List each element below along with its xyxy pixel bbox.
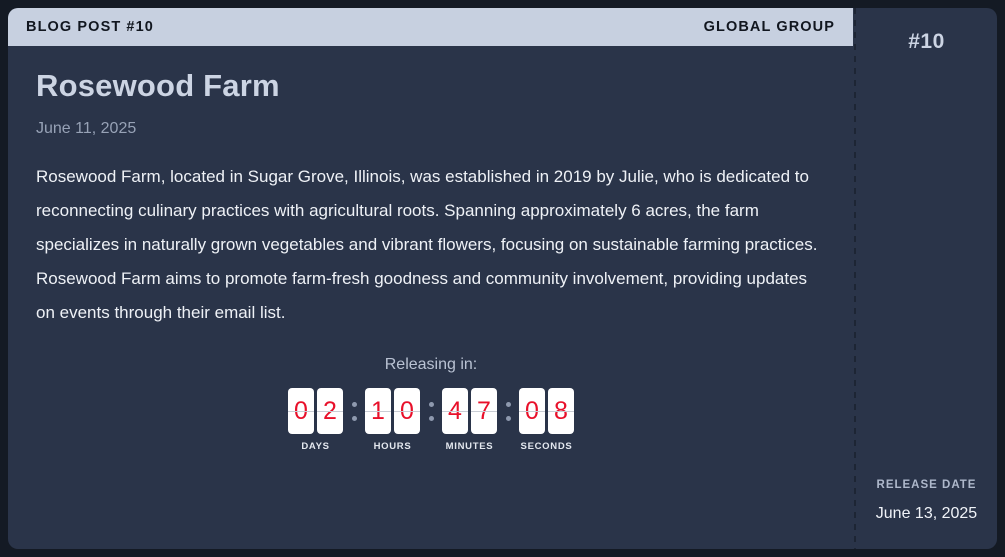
- hours-label: HOURS: [374, 441, 412, 452]
- post-sidebar: #10 RELEASE DATE June 13, 2025: [856, 8, 997, 549]
- minutes-digits: 4 7: [442, 388, 497, 434]
- clock-separator-3: [497, 388, 519, 434]
- clock-separator-1: [343, 388, 365, 434]
- days-label: DAYS: [301, 441, 329, 452]
- release-date-label: RELEASE DATE: [864, 479, 989, 491]
- countdown-unit-minutes: 4 7 MINUTES: [442, 388, 497, 452]
- post-body-text: Rosewood Farm, located in Sugar Grove, I…: [36, 160, 826, 330]
- sidebar-release-block: RELEASE DATE June 13, 2025: [864, 479, 989, 523]
- clock-separator-2: [420, 388, 442, 434]
- seconds-digits: 0 8: [519, 388, 574, 434]
- minutes-digit-tens: 4: [442, 388, 468, 434]
- minutes-digit-ones: 7: [471, 388, 497, 434]
- countdown-unit-days: 0 2 DAYS: [288, 388, 343, 452]
- post-date: June 11, 2025: [36, 120, 826, 138]
- hours-digit-tens: 1: [365, 388, 391, 434]
- colon-dot-top: [506, 402, 511, 407]
- post-main-content: Rosewood Farm June 11, 2025 Rosewood Far…: [8, 46, 854, 549]
- page-root: BLOG POST #10 GLOBAL GROUP Rosewood Farm…: [0, 0, 1005, 557]
- blog-post-label: BLOG POST #10: [26, 19, 154, 35]
- countdown-unit-hours: 1 0 HOURS: [365, 388, 420, 452]
- countdown-clock: 0 2 DAYS 1 0 HOURS: [36, 388, 826, 452]
- colon-dot-top: [429, 402, 434, 407]
- colon-dot-top: [352, 402, 357, 407]
- colon-dot-bottom: [352, 416, 357, 421]
- sidebar-post-number: #10: [908, 30, 945, 54]
- global-group-label: GLOBAL GROUP: [704, 19, 835, 35]
- blog-post-card: BLOG POST #10 GLOBAL GROUP Rosewood Farm…: [8, 8, 997, 549]
- hours-digits: 1 0: [365, 388, 420, 434]
- countdown-unit-seconds: 0 8 SECONDS: [519, 388, 574, 452]
- seconds-digit-tens: 0: [519, 388, 545, 434]
- card-header-bar: BLOG POST #10 GLOBAL GROUP: [8, 8, 853, 46]
- countdown-heading: Releasing in:: [36, 356, 826, 374]
- release-date-value: June 13, 2025: [864, 505, 989, 523]
- countdown-section: Releasing in: 0 2 DAYS: [36, 356, 826, 452]
- hours-digit-ones: 0: [394, 388, 420, 434]
- seconds-digit-ones: 8: [548, 388, 574, 434]
- page-title: Rosewood Farm: [36, 68, 826, 104]
- colon-dot-bottom: [429, 416, 434, 421]
- seconds-label: SECONDS: [521, 441, 573, 452]
- colon-dot-bottom: [506, 416, 511, 421]
- minutes-label: MINUTES: [446, 441, 494, 452]
- days-digit-tens: 0: [288, 388, 314, 434]
- days-digits: 0 2: [288, 388, 343, 434]
- days-digit-ones: 2: [317, 388, 343, 434]
